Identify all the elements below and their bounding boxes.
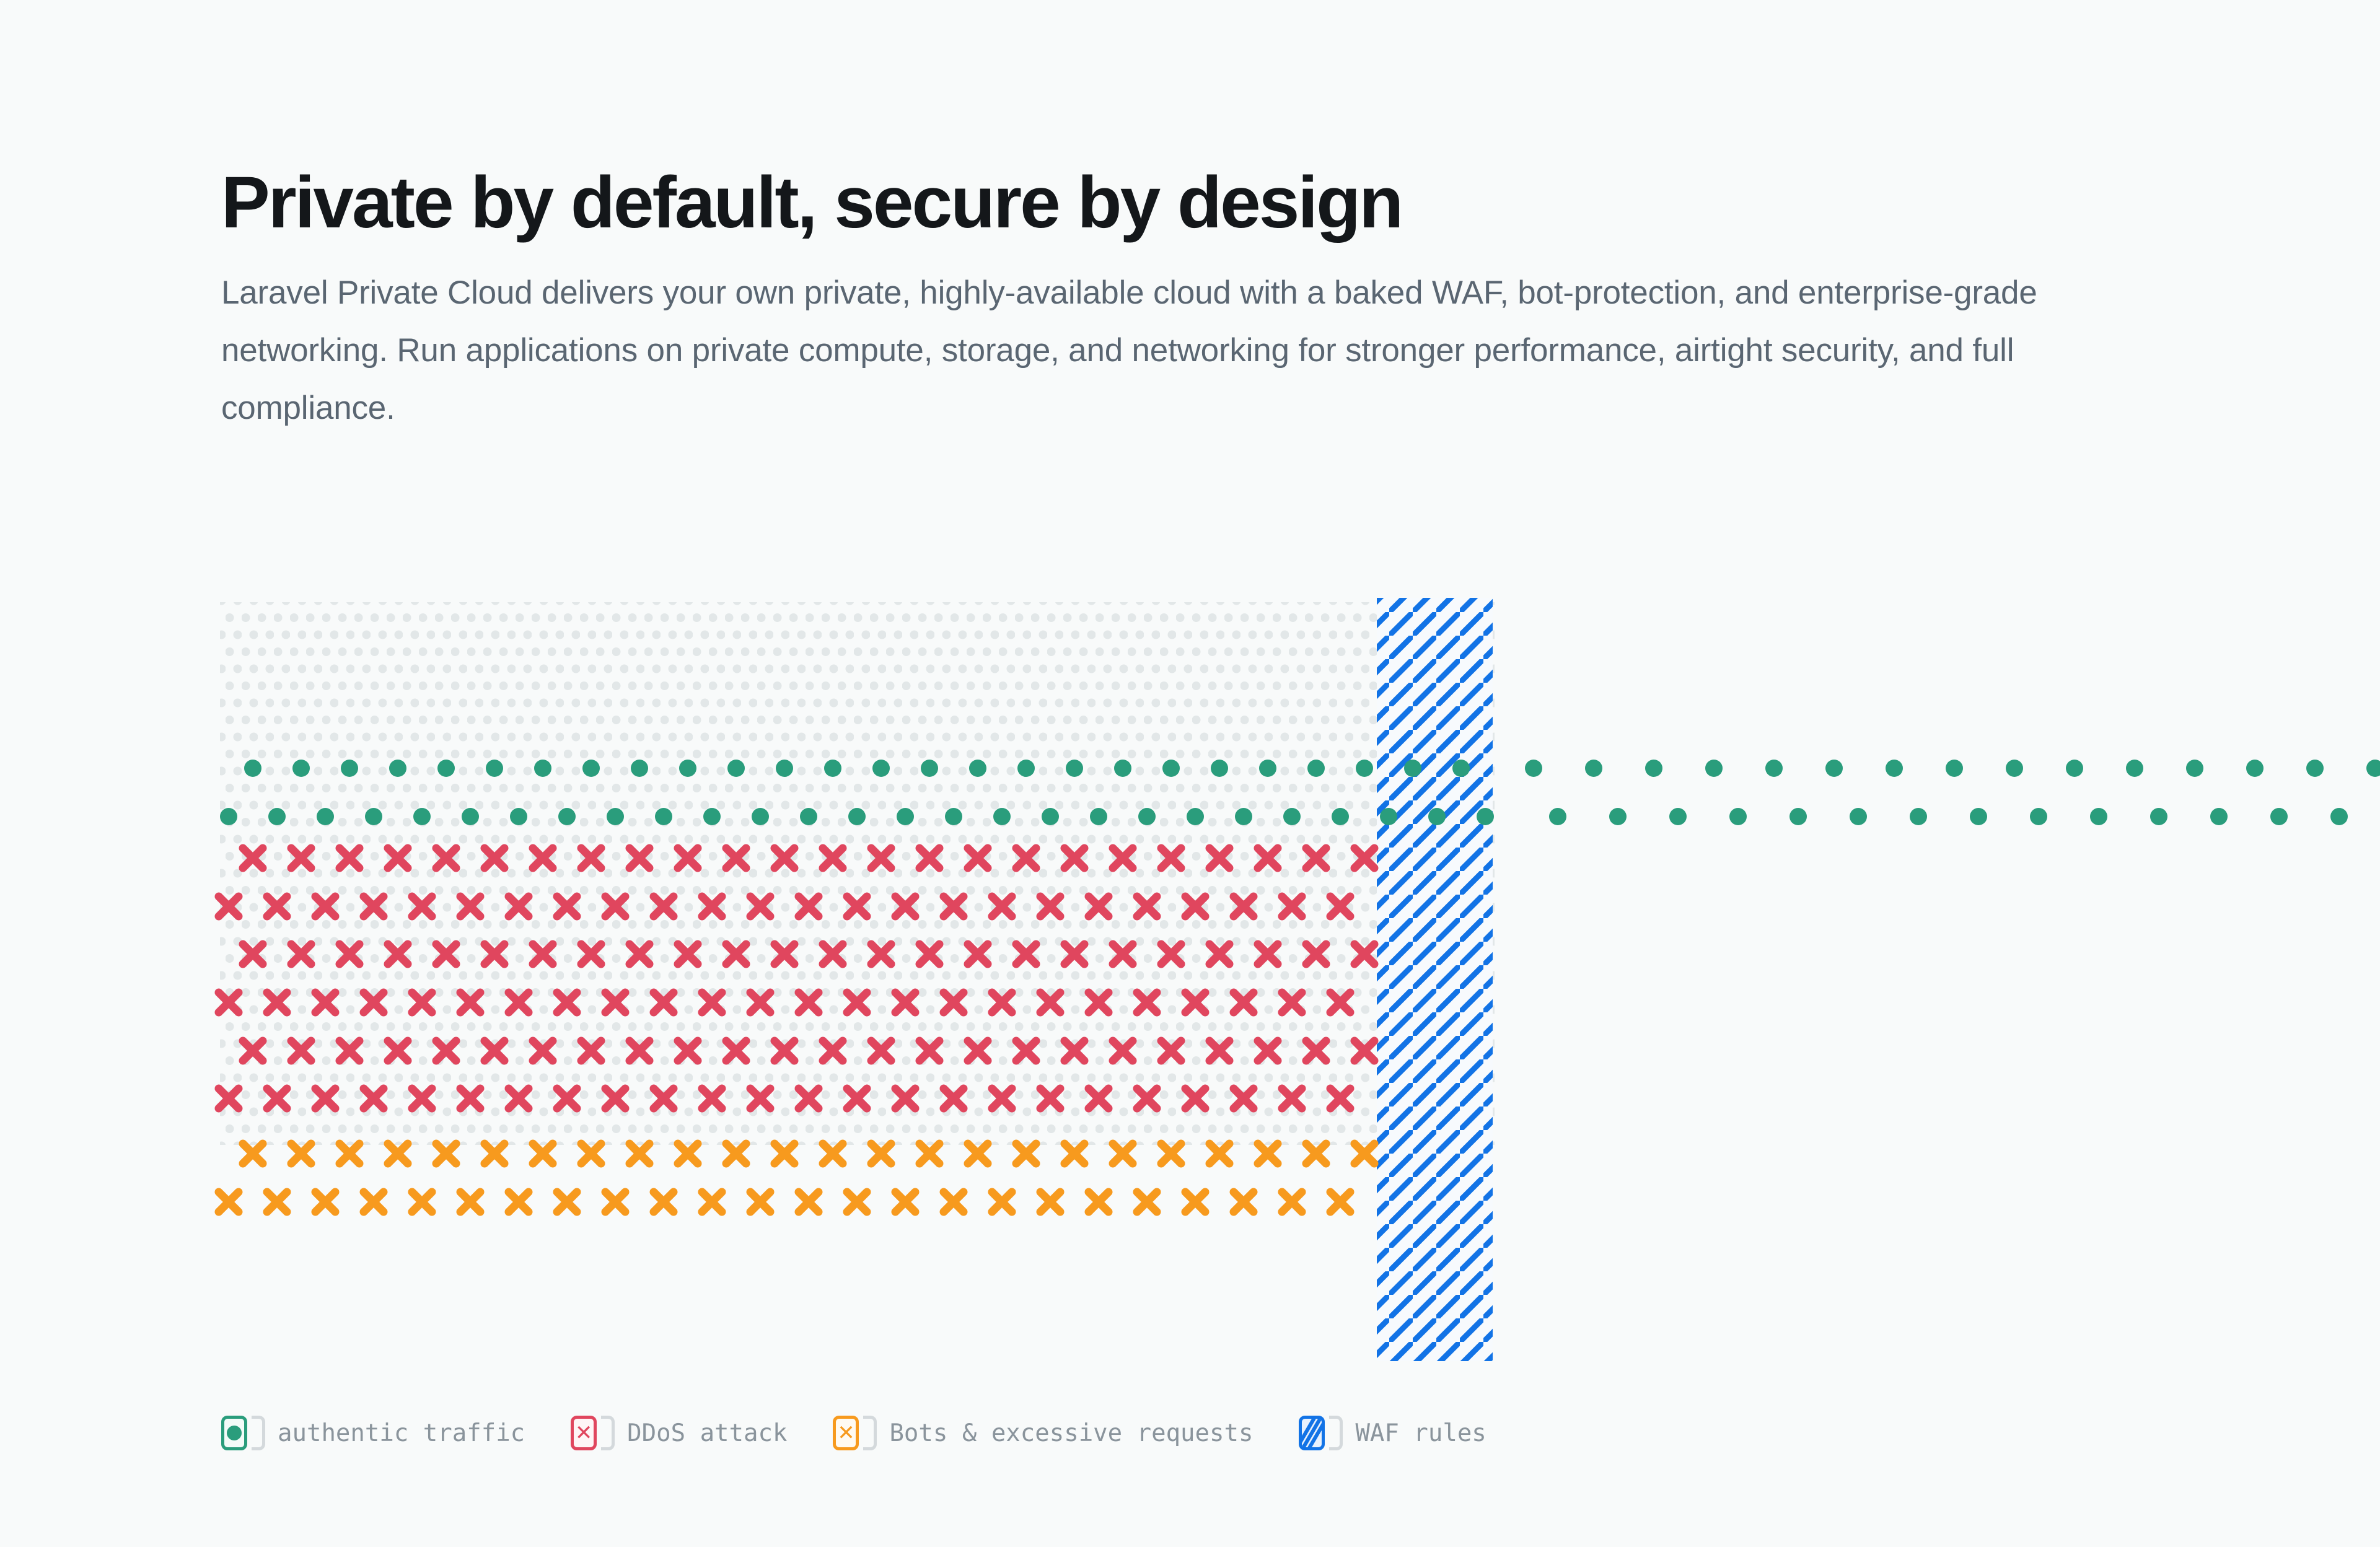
legend-item-authentic[interactable]: authentic traffic: [221, 1414, 525, 1452]
legend-item-bots[interactable]: ✕Bots & excessive requests: [833, 1414, 1253, 1452]
bracket-decoration: [252, 1416, 265, 1450]
x-glyph: ✕: [575, 1422, 593, 1444]
page-title: Private by default, secure by design: [221, 166, 2142, 239]
bracket-decoration: [1329, 1416, 1343, 1450]
legend-swatch-waf: [1299, 1414, 1343, 1452]
dot-grid-background: [220, 602, 1495, 1145]
hero-header: Private by default, secure by design Lar…: [221, 166, 2142, 437]
legend-label-authentic: authentic traffic: [278, 1419, 525, 1447]
traffic-markers: [219, 760, 2380, 1212]
legend-label-ddos: DDoS attack: [627, 1419, 787, 1447]
bracket-decoration: [601, 1416, 615, 1450]
legend-label-bots: Bots & excessive requests: [889, 1419, 1253, 1447]
legend-item-ddos[interactable]: ✕DDoS attack: [571, 1414, 787, 1452]
page-subtitle: Laravel Private Cloud delivers your own …: [221, 264, 2117, 437]
hatch-icon: [1299, 1416, 1325, 1450]
legend-swatch-authentic: [221, 1414, 265, 1452]
x-icon: ✕: [571, 1416, 597, 1450]
legend-label-waf: WAF rules: [1355, 1419, 1486, 1447]
dot-glyph: [227, 1426, 242, 1440]
legend-item-waf[interactable]: WAF rules: [1299, 1414, 1486, 1452]
waf-rules-band: [1377, 598, 1493, 1361]
legend-swatch-ddos: ✕: [571, 1414, 615, 1452]
legend-swatch-bots: ✕: [833, 1414, 877, 1452]
hatch-glyph: [1302, 1418, 1322, 1448]
dot-icon: [221, 1416, 247, 1450]
x-icon: ✕: [833, 1416, 859, 1450]
diagram-legend: authentic traffic✕DDoS attack✕Bots & exc…: [221, 1414, 1532, 1452]
x-glyph: ✕: [837, 1422, 855, 1444]
bracket-decoration: [863, 1416, 877, 1450]
